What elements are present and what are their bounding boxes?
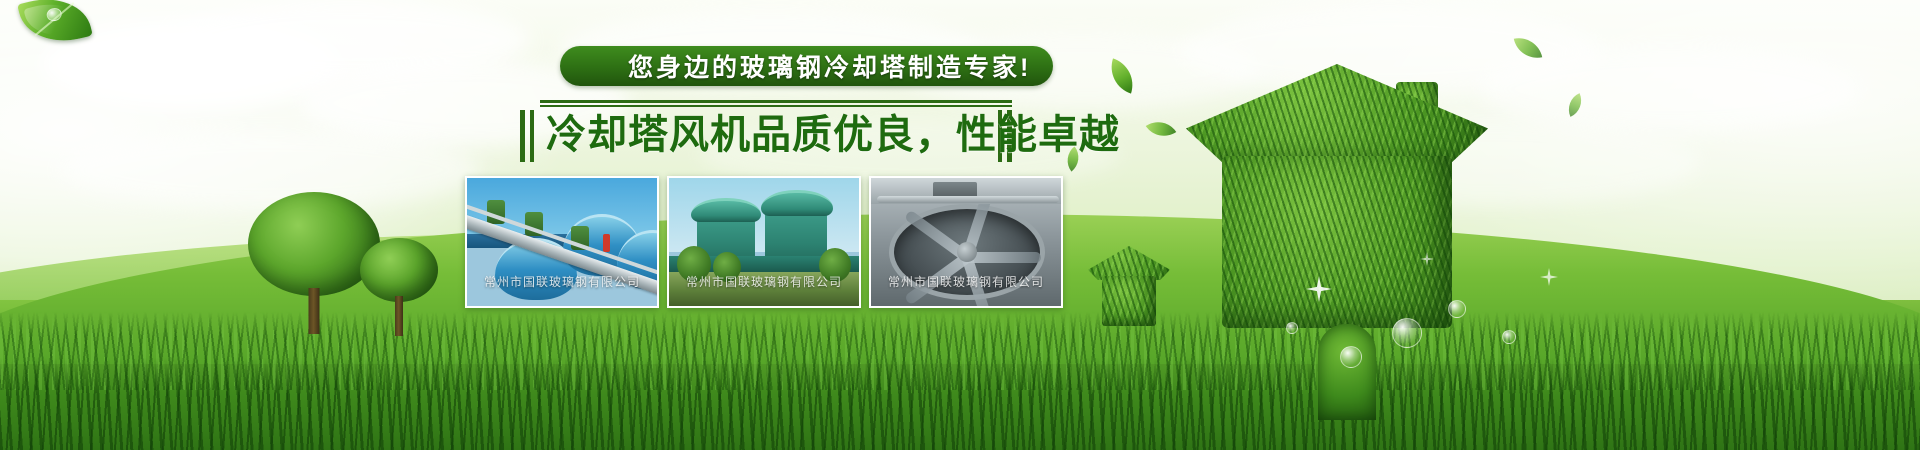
cooling-tower-basins-photo[interactable]: 常州市国联玻璃钢有限公司 xyxy=(465,176,659,308)
house-roof xyxy=(1088,246,1170,280)
grass-house-small-icon xyxy=(1086,246,1172,326)
headline-left-bar xyxy=(520,110,525,162)
fan-hub xyxy=(957,242,977,262)
eco-cooling-tower-banner: 您身边的玻璃钢冷却塔制造专家! 冷却塔风机品质优良，性能卓越 常州市国联玻璃钢有… xyxy=(0,0,1920,450)
bubble-icon xyxy=(1392,318,1422,348)
photo-watermark: 常州市国联玻璃钢有限公司 xyxy=(871,273,1061,290)
photo-watermark: 常州市国联玻璃钢有限公司 xyxy=(467,273,657,290)
bubble-icon xyxy=(1286,322,1298,334)
headline-top-rule xyxy=(540,100,1012,107)
pipe xyxy=(877,196,1059,203)
bubble-icon xyxy=(1340,346,1362,368)
grass-blades-lower xyxy=(0,358,1920,450)
headline-block: 冷却塔风机品质优良，性能卓越 xyxy=(520,100,1012,162)
cooling-tower-fan-photo[interactable]: 常州市国联玻璃钢有限公司 xyxy=(869,176,1063,308)
photo-watermark: 常州市国联玻璃钢有限公司 xyxy=(669,273,859,290)
page-title: 冷却塔风机品质优良，性能卓越 xyxy=(546,108,986,162)
house-body xyxy=(1222,156,1452,328)
house-roof xyxy=(1186,64,1488,168)
tagline-banner: 您身边的玻璃钢冷却塔制造专家! xyxy=(560,46,1053,86)
tree-trunk xyxy=(309,288,320,334)
fan-blade xyxy=(967,252,1041,263)
bubble-icon xyxy=(1502,330,1516,344)
product-photo-gallery: 常州市国联玻璃钢有限公司 常州市国联玻璃钢有限公司 xyxy=(465,176,1065,308)
indicator-post xyxy=(603,234,610,252)
dew-drop-icon xyxy=(46,7,64,23)
headline-left-bar-inner xyxy=(530,110,534,162)
tree-crown xyxy=(360,238,438,302)
bubble-icon xyxy=(1448,300,1466,318)
tree-small-icon xyxy=(360,238,438,334)
tree-trunk xyxy=(395,296,403,336)
leaf-vein xyxy=(34,2,75,37)
cooling-tower-facility-photo[interactable]: 常州市国联玻璃钢有限公司 xyxy=(667,176,861,308)
tagline-text: 您身边的玻璃钢冷却塔制造专家! xyxy=(628,48,1031,84)
grass-house-large-icon xyxy=(1178,64,1496,326)
house-body xyxy=(1102,276,1156,326)
cloud-icon xyxy=(1480,45,1860,133)
house-door xyxy=(1318,324,1376,420)
